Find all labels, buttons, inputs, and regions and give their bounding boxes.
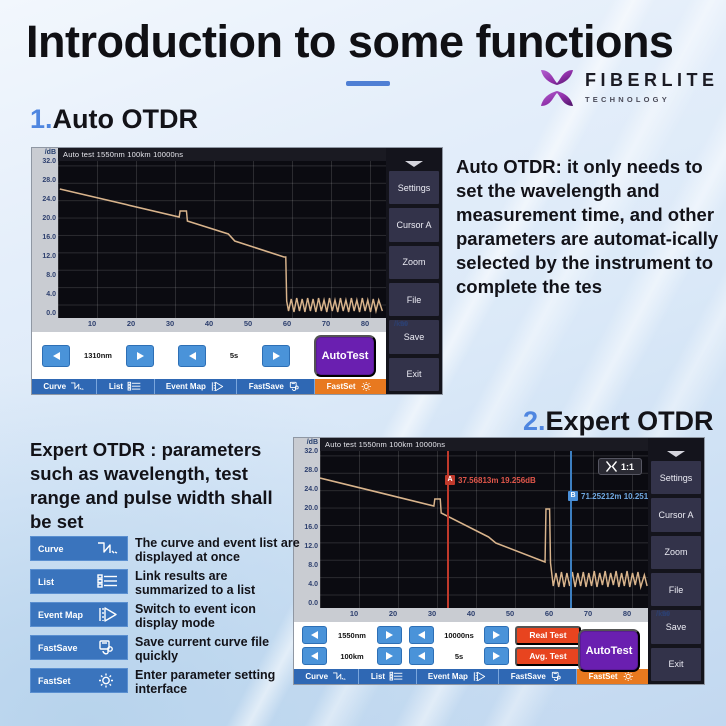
menu-item-label: Save [666, 622, 687, 632]
y-axis-tick: 8.0 [308, 562, 318, 569]
curve-icon [332, 671, 347, 682]
y-axis-tick: 12.0 [304, 543, 318, 550]
status-bar: Auto test 1550nm 100km 10000ns [320, 438, 648, 451]
y-axis-tick: 0.0 [46, 310, 56, 317]
wavelength-value: 1310nm [70, 351, 126, 360]
page-title: Introduction to some functions [26, 16, 706, 68]
plot-area: Auto test 1550nm 100km 10000ns A 37.5681… [320, 438, 648, 608]
pulse-decrease-button[interactable] [409, 626, 434, 644]
y-axis-tick: 28.0 [42, 177, 56, 184]
tab-fastsave[interactable]: FastSave [499, 669, 577, 684]
menu-item-label: Exit [406, 369, 421, 379]
tab-list[interactable]: List [359, 669, 416, 684]
menu-item-zoom[interactable]: Zoom [388, 245, 440, 280]
legend-chip-event-map[interactable]: Event Map [30, 602, 128, 627]
fastsave-icon [288, 381, 303, 392]
tab-event-map[interactable]: Event Map [155, 379, 238, 394]
fastsave-icon [288, 381, 303, 392]
fit-icon [606, 461, 617, 472]
pulse-increase-button[interactable] [484, 626, 509, 644]
otdr-chart-auto: /dB 32.028.024.020.016.012.08.04.00.0 Au… [32, 148, 386, 318]
gear-icon [622, 671, 637, 682]
legend-row: FastSet Enter parameter setting interfac… [30, 668, 302, 693]
list-icon [389, 671, 404, 682]
legend-chip-fastsave[interactable]: FastSave [30, 635, 128, 660]
legend-description: Switch to event icon display mode [135, 602, 302, 630]
menu-item-file[interactable]: File [388, 282, 440, 317]
tab-curve[interactable]: Curve [294, 669, 359, 684]
menu-item-cursor-a[interactable]: Cursor A [388, 207, 440, 242]
menu-item-file[interactable]: File [650, 572, 702, 607]
menu-item-label: Settings [660, 473, 693, 483]
event-map-icon [96, 606, 120, 623]
fastsave-icon [550, 671, 565, 682]
y-axis-tick: 32.0 [42, 158, 56, 165]
y-axis-tick: 16.0 [42, 234, 56, 241]
section-heading-auto-otdr: 1.Auto OTDR [30, 104, 198, 135]
menu-item-zoom[interactable]: Zoom [650, 535, 702, 570]
x-axis-tick: 70 [322, 320, 330, 328]
real-test-button[interactable]: Real Test [515, 626, 581, 645]
legend-row: List Link results are summarized to a li… [30, 569, 302, 594]
y-axis-unit: /dB [307, 439, 318, 446]
x-axis-tick: 10 [88, 320, 96, 328]
y-axis-tick: 16.0 [304, 524, 318, 531]
otdr-trace [58, 161, 386, 318]
legend-chip-label: Curve [38, 544, 64, 554]
logo-wordmark: FIBERLITE [585, 70, 719, 91]
otdr-device-expert: /dB 32.028.024.020.016.012.08.04.00.0 Au… [293, 437, 705, 685]
duration-decrease-button[interactable] [178, 345, 206, 367]
cursor-b-value: 71.25212m 10.251dB [581, 492, 648, 501]
cursor-b-readout: B 71.25212m 10.251dB [568, 491, 648, 501]
y-axis-tick: 20.0 [304, 505, 318, 512]
legend-chip-curve[interactable]: Curve [30, 536, 128, 561]
y-axis-tick: 24.0 [304, 486, 318, 493]
x-axis: 102030405060708090/km [294, 608, 648, 622]
menu-item-settings[interactable]: Settings [388, 170, 440, 205]
status-bar: Auto test 1550nm 100km 10000ns [58, 148, 386, 161]
range-value: 100km [327, 652, 377, 661]
menu-item-label: Zoom [402, 257, 425, 267]
avg-test-button[interactable]: Avg. Test [515, 647, 581, 666]
autotest-button[interactable]: AutoTest [314, 335, 376, 377]
curve-icon [96, 540, 120, 557]
legend-chip-label: FastSave [38, 643, 78, 653]
plot-area: Auto test 1550nm 100km 10000ns [58, 148, 386, 318]
x-axis-tick: 70 [584, 610, 592, 618]
x-axis-tick: 10 [350, 610, 358, 618]
title-divider [346, 81, 390, 86]
legend-row: CurveThe curve and event list are displa… [30, 536, 302, 561]
tab-label: FastSet [327, 382, 356, 391]
x-axis-tick: 40 [467, 610, 475, 618]
curve-icon [332, 671, 347, 682]
gear-icon [360, 381, 375, 392]
fiberlite-mark-icon [535, 66, 579, 110]
section-heading-expert-otdr: 2.Expert OTDR [523, 406, 714, 437]
menu-item-label: Zoom [664, 547, 687, 557]
fastsave-icon [96, 639, 120, 656]
event-map-icon [96, 606, 120, 623]
y-axis-tick: 32.0 [304, 448, 318, 455]
x-axis-unit: /km [394, 320, 407, 328]
tab-event-map[interactable]: Event Map [417, 669, 500, 684]
zoom-ratio-label: 1:1 [621, 462, 634, 472]
menu-item-exit[interactable]: Exit [388, 357, 440, 392]
legend-description: The curve and event list are displayed a… [135, 536, 302, 564]
x-axis-tick: 60 [283, 320, 291, 328]
duration-value: 5s [206, 351, 262, 360]
legend-chip-label: Event Map [38, 610, 83, 620]
curve-icon [70, 381, 85, 392]
tab-label: List [371, 672, 385, 681]
wavelength-increase-button[interactable] [126, 345, 154, 367]
control-panel-expert: 1550nm 10000ns Real Test AutoTest 100km [294, 622, 648, 669]
tab-curve[interactable]: Curve [32, 379, 97, 394]
section-name: Auto OTDR [53, 104, 198, 134]
tab-label: Curve [43, 382, 66, 391]
cursor-b-tag: B [568, 491, 578, 501]
list-icon [96, 573, 120, 590]
side-menu-auto: SettingsCursor AZoomFileSaveExit [386, 148, 442, 394]
duration-decrease-button[interactable] [409, 647, 434, 665]
curve-icon [96, 540, 120, 557]
menu-collapse-handle[interactable] [648, 449, 704, 460]
menu-item-label: Cursor A [658, 510, 693, 520]
control-panel-auto: 1310nm 5s AutoTest [32, 332, 386, 379]
x-axis-tick: 20 [389, 610, 397, 618]
section-number: 1. [30, 104, 53, 134]
wavelength-increase-button[interactable] [377, 626, 402, 644]
event-map-icon [210, 381, 225, 392]
legend-description: Enter parameter setting interface [135, 668, 302, 696]
fastsave-icon [96, 639, 120, 656]
list-icon [389, 671, 404, 682]
feature-legend-list: CurveThe curve and event list are displa… [30, 536, 302, 701]
y-axis-tick: 4.0 [308, 581, 318, 588]
legend-chip-fastset[interactable]: FastSet [30, 668, 128, 693]
menu-item-label: File [669, 585, 684, 595]
otdr-device-auto: /dB 32.028.024.020.016.012.08.04.00.0 Au… [31, 147, 443, 395]
gear-icon [96, 672, 120, 689]
x-axis-unit: /km [656, 610, 669, 618]
x-axis-tick: 80 [623, 610, 631, 618]
chevron-down-icon [667, 451, 685, 457]
cursor-b-line[interactable] [570, 451, 572, 608]
device-main-area: /dB 32.028.024.020.016.012.08.04.00.0 Au… [294, 438, 648, 684]
tab-label: FastSet [589, 672, 618, 681]
tab-fastset[interactable]: FastSet [315, 379, 386, 394]
menu-item-label: Cursor A [396, 220, 431, 230]
chevron-down-icon [405, 161, 423, 167]
legend-chip-label: List [38, 577, 54, 587]
cursor-a-value: 37.56813m 19.256dB [458, 476, 536, 485]
y-axis-tick: 28.0 [304, 467, 318, 474]
y-axis: /dB 32.028.024.020.016.012.08.04.00.0 [32, 148, 58, 318]
menu-item-label: File [407, 295, 422, 305]
fastsave-icon [550, 671, 565, 682]
x-axis-tick: 50 [506, 610, 514, 618]
pulse-value: 10000ns [434, 631, 484, 640]
x-axis-tick: 40 [205, 320, 213, 328]
duration-increase-button[interactable] [484, 647, 509, 665]
gear-icon [360, 381, 375, 392]
x-axis: 102030405060708090/km [32, 318, 386, 332]
tab-label: FastSave [249, 382, 284, 391]
wavelength-decrease-button[interactable] [42, 345, 70, 367]
legend-row: FastSave Save current curve file quickly [30, 635, 302, 660]
x-axis-tick: 30 [428, 610, 436, 618]
x-axis-tick: 50 [244, 320, 252, 328]
y-axis-tick: 8.0 [46, 272, 56, 279]
duration-increase-button[interactable] [262, 345, 290, 367]
range-decrease-button[interactable] [302, 647, 327, 665]
otdr-chart-expert: /dB 32.028.024.020.016.012.08.04.00.0 Au… [294, 438, 648, 608]
y-axis-tick: 12.0 [42, 253, 56, 260]
expert-otdr-description: Expert OTDR : parameters such as wavelen… [30, 438, 292, 534]
slide-root: Introduction to some functions FIBERLITE… [0, 0, 726, 726]
auto-otdr-description: Auto OTDR: it only needs to set the wave… [456, 155, 722, 299]
event-map-icon [472, 671, 487, 682]
x-axis-tick: 20 [127, 320, 135, 328]
legend-description: Link results are summarized to a list [135, 569, 302, 597]
list-icon [127, 381, 142, 392]
tab-list[interactable]: List [97, 379, 154, 394]
menu-item-label: Settings [398, 183, 431, 193]
logo-tagline: TECHNOLOGY [585, 95, 719, 104]
tab-label: Curve [305, 672, 328, 681]
tab-label: FastSave [511, 672, 546, 681]
x-axis-tick: 30 [166, 320, 174, 328]
zoom-ratio-badge[interactable]: 1:1 [598, 458, 642, 475]
device-main-area: /dB 32.028.024.020.016.012.08.04.00.0 Au… [32, 148, 386, 394]
legend-description: Save current curve file quickly [135, 635, 302, 663]
y-axis-tick: 20.0 [42, 215, 56, 222]
section-name: Expert OTDR [546, 406, 714, 436]
cursor-a-tag: A [445, 475, 455, 485]
menu-item-settings[interactable]: Settings [650, 460, 702, 495]
range-increase-button[interactable] [377, 647, 402, 665]
autotest-button[interactable]: AutoTest [578, 629, 640, 672]
legend-row: Event Map Switch to event icon display m… [30, 602, 302, 627]
y-axis-unit: /dB [45, 149, 56, 156]
legend-chip-label: FastSet [38, 676, 71, 686]
wavelength-decrease-button[interactable] [302, 626, 327, 644]
y-axis-tick: 4.0 [46, 291, 56, 298]
duration-value: 5s [434, 652, 484, 661]
event-map-icon [210, 381, 225, 392]
wavelength-value: 1550nm [327, 631, 377, 640]
tab-label: Event Map [166, 382, 206, 391]
brand-logo: FIBERLITE TECHNOLOGY [535, 64, 715, 114]
y-axis-tick: 24.0 [42, 196, 56, 203]
gear-icon [96, 672, 120, 689]
tab-label: Event Map [428, 672, 468, 681]
event-map-icon [472, 671, 487, 682]
side-menu-expert: SettingsCursor AZoomFileSaveExit [648, 438, 704, 684]
gear-icon [622, 671, 637, 682]
menu-item-exit[interactable]: Exit [650, 647, 702, 682]
section-number: 2. [523, 406, 546, 436]
tab-fastsave[interactable]: FastSave [237, 379, 315, 394]
menu-collapse-handle[interactable] [386, 159, 442, 170]
y-axis-tick: 0.0 [308, 600, 318, 607]
menu-item-label: Exit [668, 659, 683, 669]
x-axis-tick: 60 [545, 610, 553, 618]
legend-chip-list[interactable]: List [30, 569, 128, 594]
menu-item-cursor-a[interactable]: Cursor A [650, 497, 702, 532]
x-axis-tick: 80 [361, 320, 369, 328]
menu-item-label: Save [404, 332, 425, 342]
tab-label: List [109, 382, 123, 391]
list-icon [127, 381, 142, 392]
list-icon [96, 573, 120, 590]
curve-icon [70, 381, 85, 392]
cursor-a-readout: A 37.56813m 19.256dB [445, 475, 536, 485]
tab-bar-auto: CurveList Event Map FastSave FastSet [32, 379, 386, 394]
